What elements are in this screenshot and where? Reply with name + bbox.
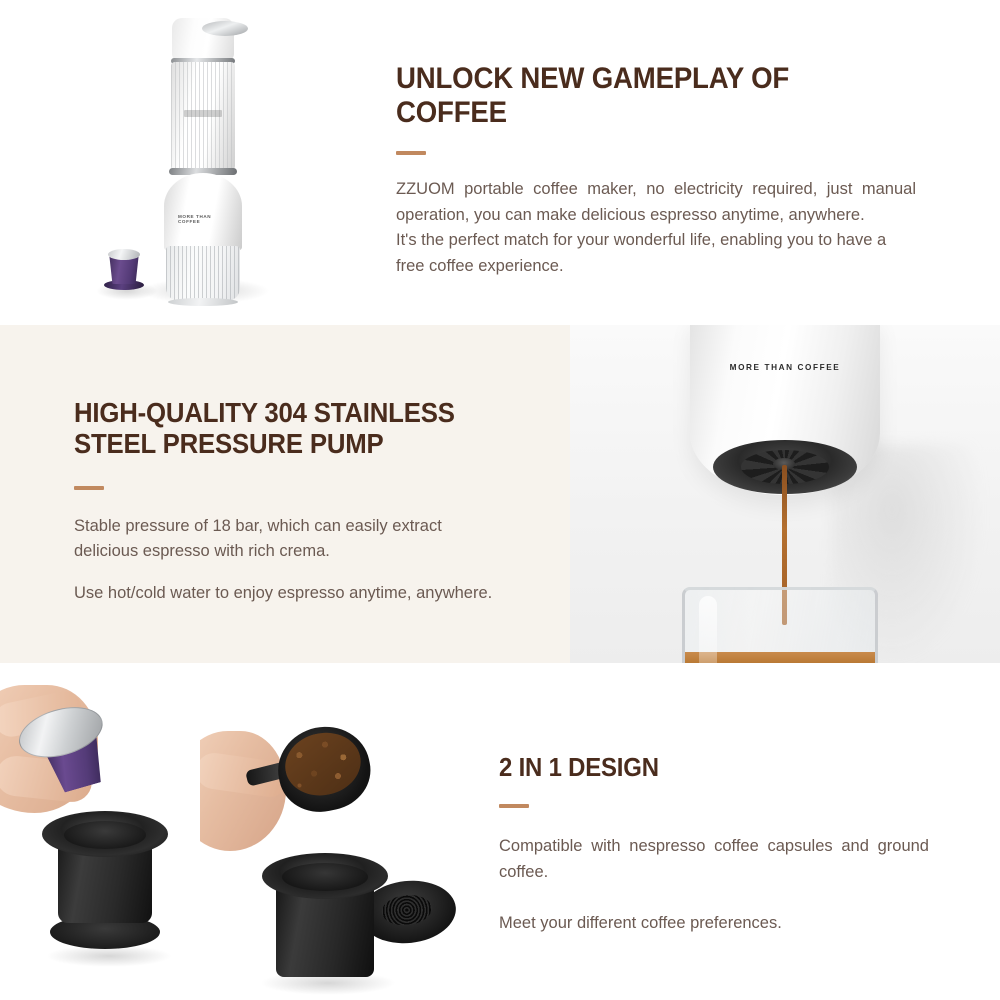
capsule-holder-photo: [0, 663, 200, 1000]
maker-body-lower: [164, 173, 242, 251]
section-unlock-new-gameplay: MORE THAN COFFEE UNLOCK NEW GAMEPLAY OF …: [0, 0, 1000, 325]
product-hero-photo: MORE THAN COFFEE: [0, 0, 370, 325]
section-2-paragraph-1: Stable pressure of 18 bar, which can eas…: [74, 514, 504, 565]
section-1-heading: UNLOCK NEW GAMEPLAY OF COFFEE: [396, 62, 874, 129]
maker-cap-disc: [202, 21, 248, 36]
accent-dash: [74, 486, 104, 490]
head-brand-label: MORE THAN COFFEE: [690, 363, 880, 372]
coffee-maker-illustration: MORE THAN COFFEE: [150, 18, 255, 288]
section-2-left-panel: HIGH-QUALITY 304 STAINLESS STEEL PRESSUR…: [0, 325, 570, 663]
maker-logo-mark: [184, 110, 222, 117]
maker-glass-cup: [166, 246, 240, 302]
section-3-copy: 2 IN 1 DESIGN Compatible with nespresso …: [499, 753, 929, 937]
capsule-foil-lid: [108, 249, 140, 260]
ground-coffee-basket: [262, 853, 388, 1000]
ground-coffee-scene: [200, 663, 460, 1000]
section-3-heading: 2 IN 1 DESIGN: [499, 753, 895, 782]
section-2-paragraph-2: Use hot/cold water to enjoy espresso any…: [74, 581, 504, 607]
section-2-copy: HIGH-QUALITY 304 STAINLESS STEEL PRESSUR…: [74, 397, 504, 606]
capsule-scene: [0, 663, 200, 1000]
ground-coffee: [279, 726, 366, 802]
espresso-pour-photo: MORE THAN COFFEE: [570, 325, 1000, 663]
maker-top-cap: [172, 18, 234, 60]
glass-highlight: [699, 596, 717, 663]
maker-brand-label: MORE THAN COFFEE: [178, 216, 230, 222]
espresso-glass: [682, 587, 878, 663]
basket-bore: [282, 863, 368, 891]
section-2-heading-line-1: HIGH-QUALITY 304 STAINLESS: [74, 397, 470, 428]
section-1-copy: UNLOCK NEW GAMEPLAY OF COFFEE ZZUOM port…: [396, 62, 916, 279]
capsule-holder: [42, 811, 168, 961]
section-1-paragraph-1: ZZUOM portable coffee maker, no electric…: [396, 177, 916, 228]
accent-dash: [396, 151, 426, 155]
section-two-in-one-design: 2 IN 1 DESIGN Compatible with nespresso …: [0, 663, 1000, 1000]
pour-scene: MORE THAN COFFEE: [570, 325, 1000, 663]
section-3-paragraph-1: Compatible with nespresso coffee capsule…: [499, 834, 929, 885]
section-stainless-pressure-pump: HIGH-QUALITY 304 STAINLESS STEEL PRESSUR…: [0, 325, 1000, 663]
coffee-scoop: [270, 718, 377, 819]
section-2-heading-line-2: STEEL PRESSURE PUMP: [74, 428, 470, 459]
maker-glass-base: [168, 298, 238, 306]
ground-coffee-basket-photo: [200, 663, 460, 1000]
product-detail-page: MORE THAN COFFEE UNLOCK NEW GAMEPLAY OF …: [0, 0, 1000, 1000]
section-1-paragraph-2: It's the perfect match for your wonderfu…: [396, 228, 916, 279]
holder-bore: [64, 821, 146, 849]
nespresso-capsule-illustration: [101, 245, 147, 293]
accent-dash: [499, 804, 529, 808]
section-3-paragraph-2: Meet your different coffee preferences.: [499, 911, 929, 937]
